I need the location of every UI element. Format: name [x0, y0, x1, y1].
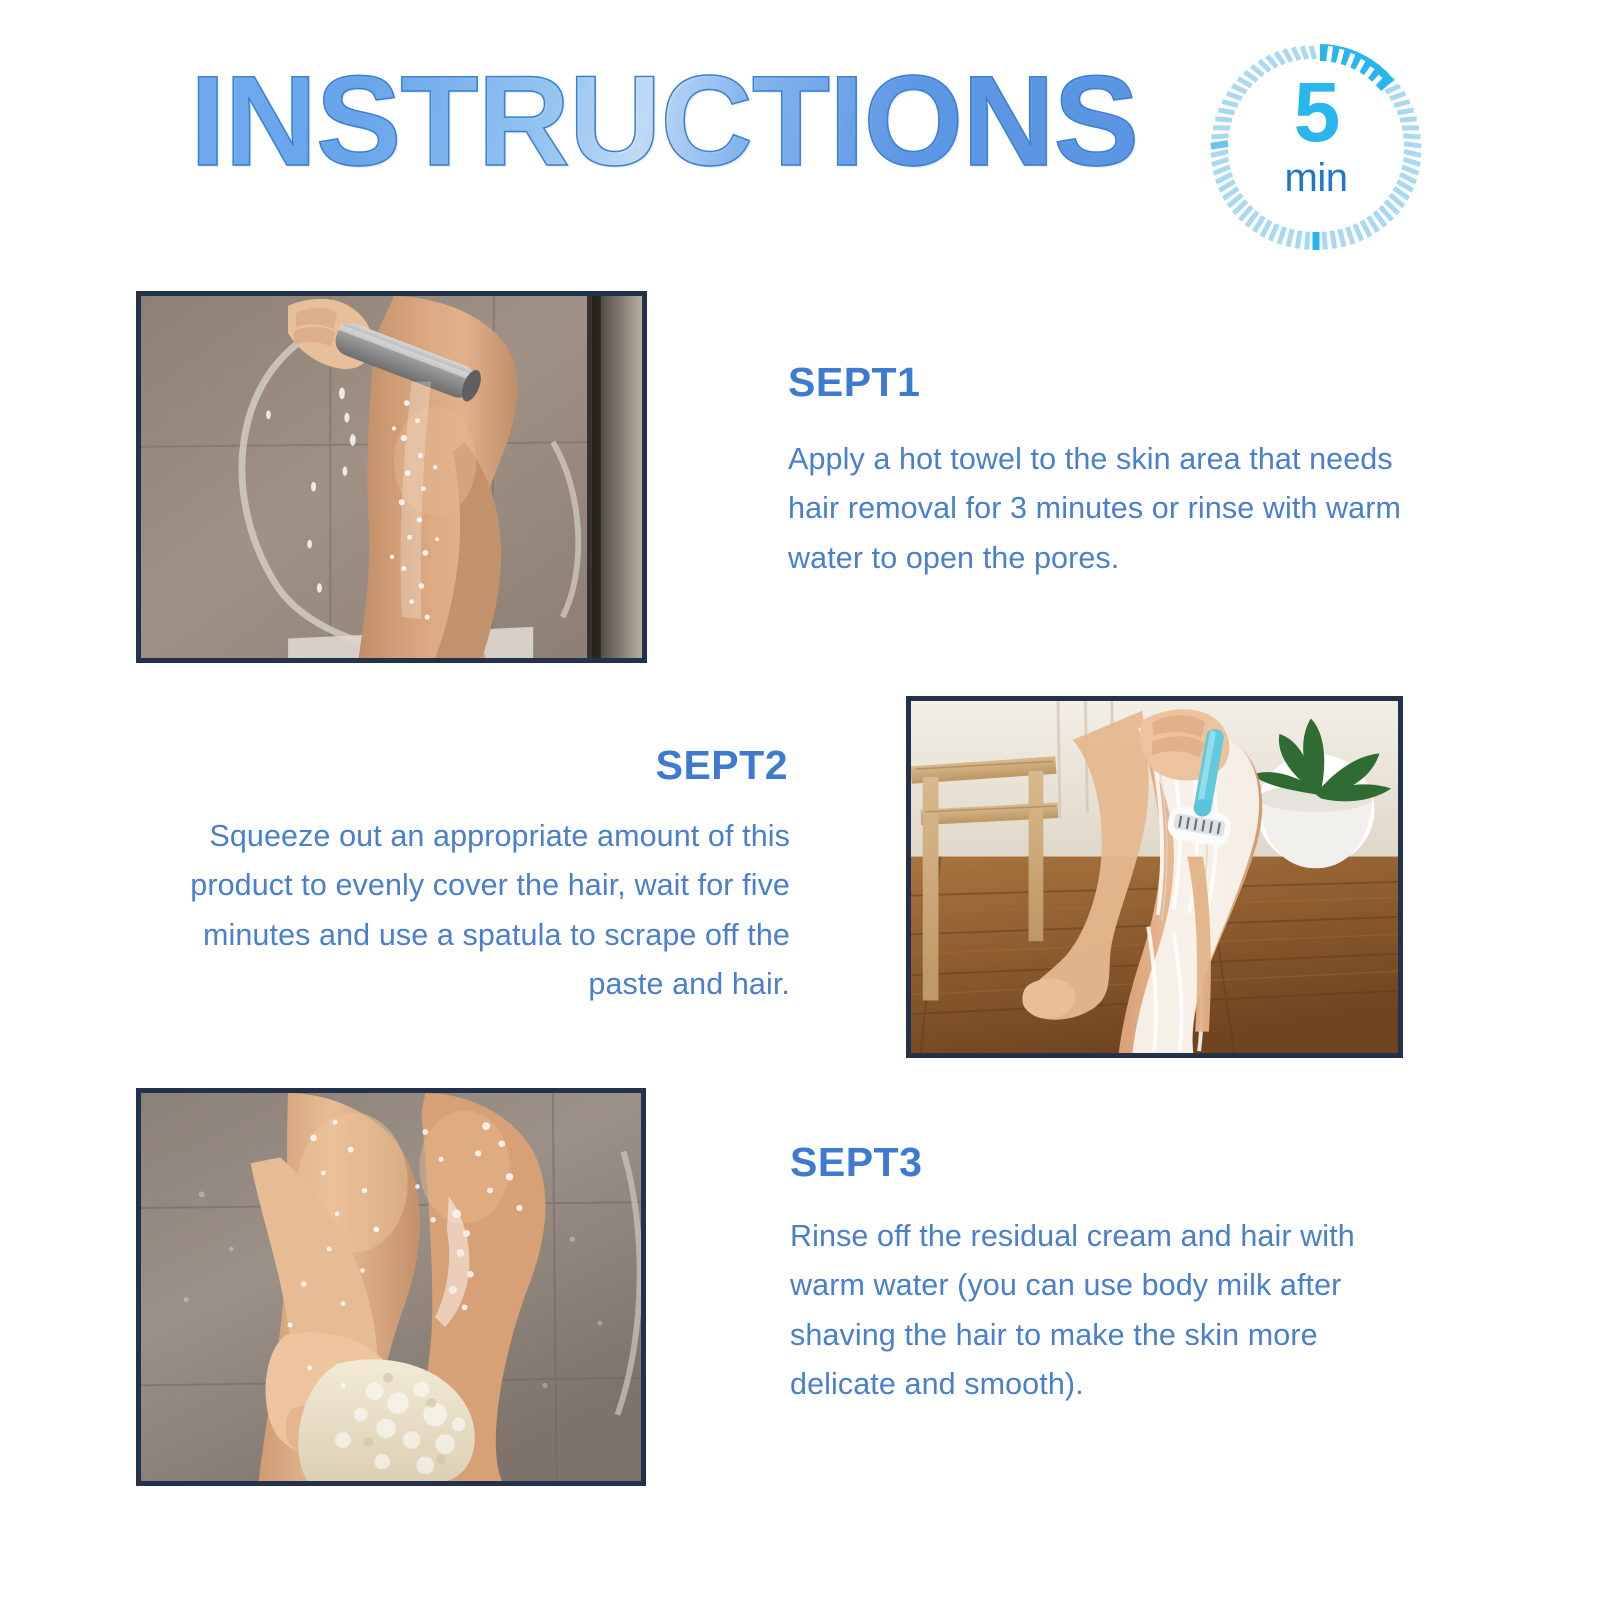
timer-badge: 5 min: [1198, 18, 1434, 254]
shower-rinse-leg-image: [141, 296, 642, 658]
header: INSTRUCTIONS: [0, 0, 1600, 270]
shaving-leg-with-razor-image: [911, 701, 1398, 1053]
step-3-photo: [136, 1088, 646, 1486]
step-3-heading: SEPT3: [790, 1142, 922, 1183]
step-1-photo: [136, 291, 647, 663]
timer-value: 5: [1198, 70, 1434, 154]
step-2-body: Squeeze out an appropriate amount of thi…: [190, 812, 790, 1010]
page-title: INSTRUCTIONS: [190, 58, 1138, 186]
step-2-heading: SEPT2: [656, 745, 788, 786]
step-1-heading: SEPT1: [788, 362, 920, 403]
washing-leg-with-loofah-image: [141, 1093, 641, 1481]
step-3-body: Rinse off the residual cream and hair wi…: [790, 1212, 1390, 1410]
step-2-photo: [906, 696, 1403, 1058]
step-1-body: Apply a hot towel to the skin area that …: [788, 435, 1408, 583]
timer-unit-label: min: [1198, 158, 1434, 198]
